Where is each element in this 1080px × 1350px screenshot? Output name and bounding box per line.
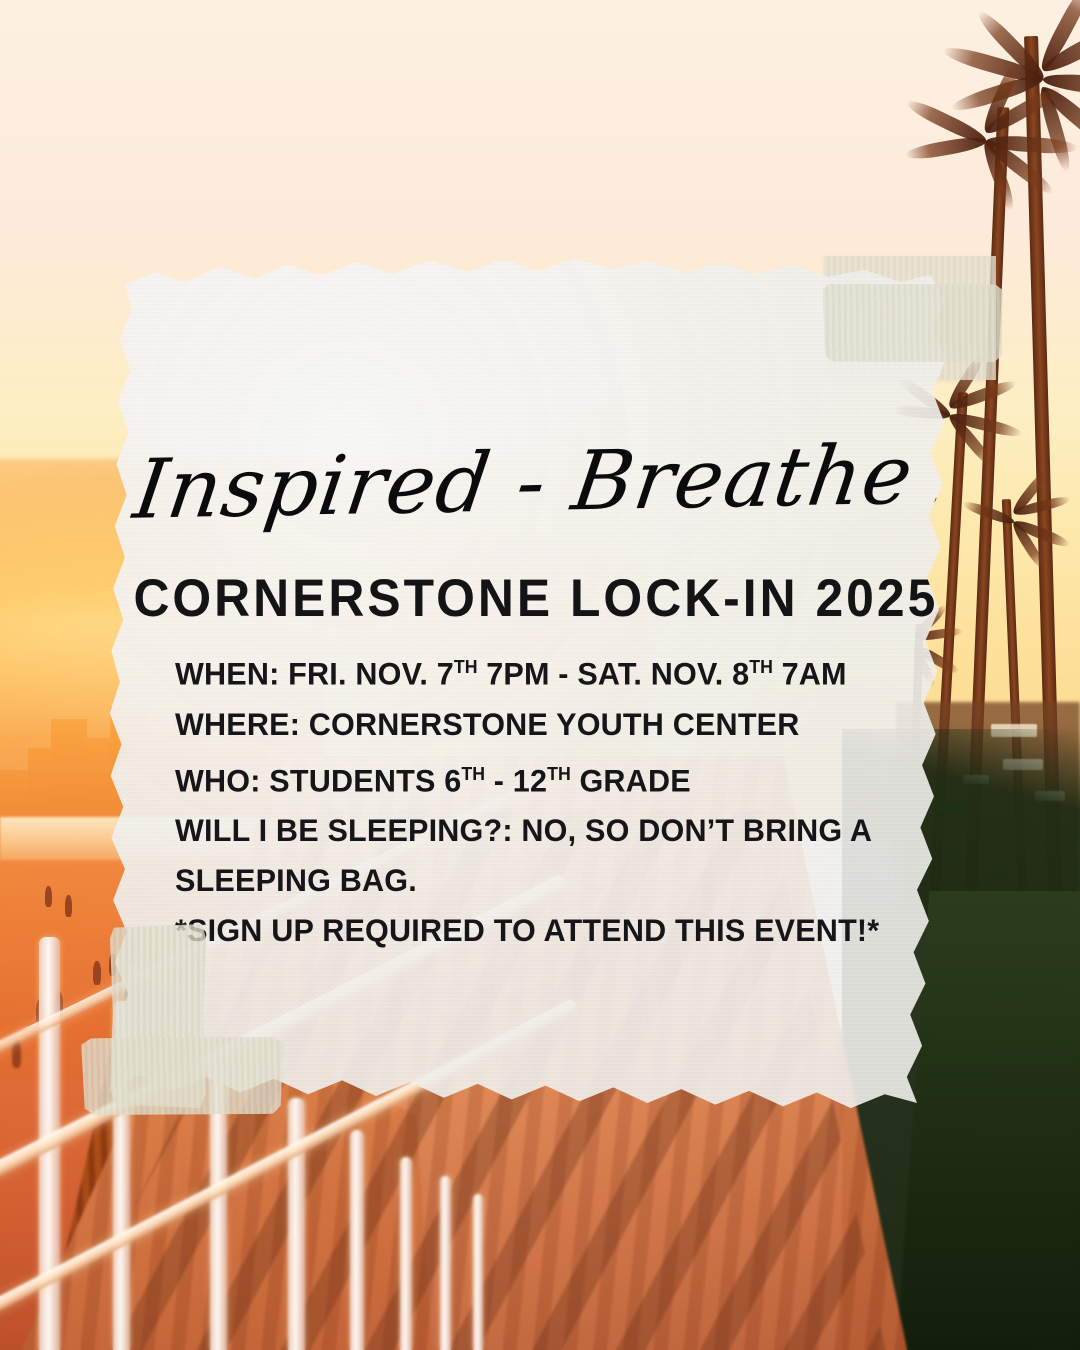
script-title: Inspired - Breathe Life <box>129 434 955 532</box>
details-list: WHEN: FRI. NOV. 7TH 7PM - SAT. NOV. 8TH … <box>175 642 935 955</box>
torn-paper-sheet: Inspired - Breathe Life CORNERSTONE LOCK… <box>108 256 956 1122</box>
detail-row-sleeping: WILL I BE SLEEPING?: NO, SO DON’T BRING … <box>175 805 912 905</box>
detail-row-when: WHEN: FRI. NOV. 7TH 7PM - SAT. NOV. 8TH … <box>175 642 912 699</box>
tape-bottom-left-horizontal <box>81 1034 285 1119</box>
when-middle: 7PM - SAT. NOV. 8 <box>478 656 750 692</box>
who-suffix: GRADE <box>571 762 691 798</box>
poster-content: Inspired - Breathe Life CORNERSTONE LOCK… <box>108 256 956 1122</box>
who-middle: - 12 <box>485 762 547 798</box>
when-ordinal-2: TH <box>749 656 773 677</box>
detail-row-where: WHERE: CORNERSTONE YOUTH CENTER <box>175 699 912 749</box>
detail-row-signup: *SIGN UP REQUIRED TO ATTEND THIS EVENT!* <box>175 905 912 955</box>
detail-row-who: WHO: STUDENTS 6TH - 12TH GRADE <box>175 749 912 806</box>
who-prefix: WHO: STUDENTS 6 <box>175 762 461 798</box>
when-prefix: WHEN: FRI. NOV. 7 <box>175 656 454 692</box>
tape-top-right-horizontal <box>823 282 1004 364</box>
page-title: CORNERSTONE LOCK-IN 2025 <box>133 568 930 629</box>
when-ordinal-1: TH <box>454 656 478 677</box>
who-ordinal-1: TH <box>461 763 485 784</box>
who-ordinal-2: TH <box>547 763 571 784</box>
when-suffix: 7AM <box>773 656 847 692</box>
poster-canvas: Inspired - Breathe Life CORNERSTONE LOCK… <box>0 0 1080 1350</box>
